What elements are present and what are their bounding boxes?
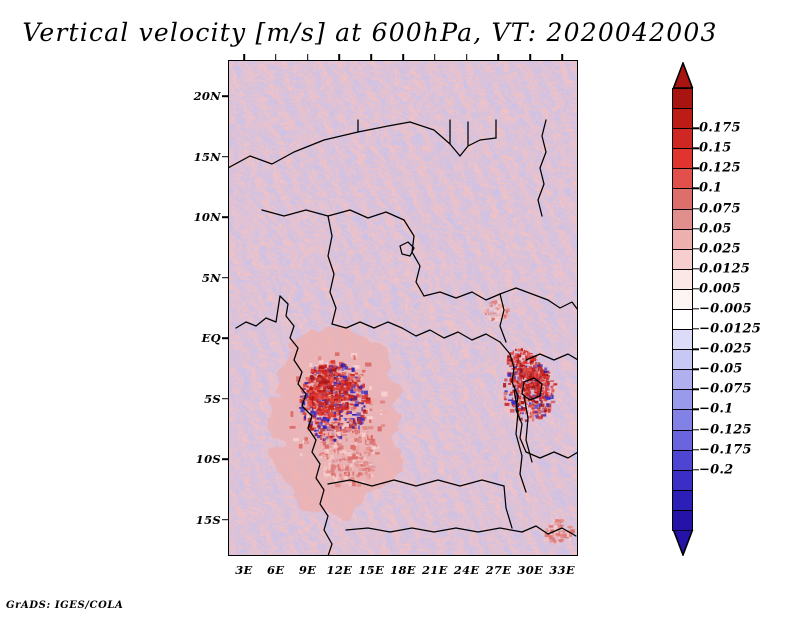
colorbar-tick-label: −0.1 (699, 402, 733, 417)
colorbar-segment (672, 389, 693, 410)
x-axis-label: 27E (486, 563, 512, 577)
colorbar-tick-label: −0.125 (699, 422, 752, 437)
colorbar: 0.1750.150.1250.10.0750.050.0250.01250.0… (672, 62, 693, 556)
map-panel: 20N15N10N5NEQ5S10S15S 3E6E9E12E15E18E21E… (228, 60, 578, 556)
x-tick-mark (275, 54, 277, 60)
x-tick-mark (466, 54, 468, 60)
colorbar-segment (672, 229, 693, 250)
y-axis-label: 10S (196, 452, 221, 466)
colorbar-tick-label: 0.1 (699, 181, 722, 196)
colorbar-tick-label: −0.005 (699, 302, 752, 317)
colorbar-segment (672, 289, 693, 310)
x-axis-label: 21E (422, 563, 448, 577)
x-tick-mark (307, 54, 309, 60)
attribution-footer: GrADS: IGES/COLA (6, 600, 123, 611)
colorbar-max-arrow (672, 62, 694, 88)
colorbar-segment (672, 88, 693, 109)
colorbar-tick-label: 0.075 (699, 201, 741, 216)
colorbar-segment (672, 369, 693, 390)
colorbar-tick-label: −0.2 (699, 462, 733, 477)
y-axis-label: 15S (196, 513, 221, 527)
colorbar-segment (672, 309, 693, 330)
colorbar-tick-label: −0.025 (699, 342, 752, 357)
y-tick-mark (222, 337, 228, 339)
y-tick-mark (222, 216, 228, 218)
vertical-velocity-field (228, 60, 578, 556)
x-tick-mark (434, 54, 436, 60)
y-tick-mark (222, 458, 228, 460)
x-tick-mark (402, 54, 404, 60)
colorbar-segment (672, 470, 693, 491)
y-tick-mark (222, 398, 228, 400)
colorbar-tick-label: 0.05 (699, 221, 731, 236)
x-tick-mark (370, 54, 372, 60)
y-axis-label: 5N (202, 271, 221, 285)
colorbar-segment (672, 269, 693, 290)
colorbar-tick-label: 0.005 (699, 281, 741, 296)
y-tick-mark (222, 156, 228, 158)
x-axis-label: 30E (517, 563, 543, 577)
colorbar-segment (672, 510, 693, 531)
colorbar-segment (672, 188, 693, 209)
y-axis-label: 15N (194, 150, 221, 164)
colorbar-segment (672, 430, 693, 451)
x-axis-label: 33E (549, 563, 575, 577)
colorbar-tick-label: 0.0125 (699, 261, 750, 276)
colorbar-segment (672, 128, 693, 149)
colorbar-segment (672, 409, 693, 430)
colorbar-tick-label: 0.175 (699, 121, 741, 136)
x-tick-mark (498, 54, 500, 60)
y-tick-mark (222, 519, 228, 521)
x-axis-label: 24E (454, 563, 480, 577)
y-tick-mark (222, 95, 228, 97)
y-tick-mark (222, 277, 228, 279)
x-tick-mark (243, 54, 245, 60)
x-axis-label: 15E (358, 563, 384, 577)
colorbar-segment (672, 209, 693, 230)
colorbar-segment (672, 490, 693, 511)
colorbar-segment (672, 249, 693, 270)
plot-canvas: Vertical velocity [m/s] at 600hPa, VT: 2… (0, 0, 800, 618)
colorbar-tick-label: −0.0125 (699, 322, 761, 337)
y-axis-label: 20N (194, 89, 221, 103)
x-axis-label: 18E (390, 563, 416, 577)
colorbar-segment (672, 329, 693, 350)
colorbar-min-arrow (672, 530, 694, 556)
page-title: Vertical velocity [m/s] at 600hPa, VT: 2… (0, 18, 740, 47)
y-axis-label: EQ (202, 331, 221, 345)
colorbar-tick-label: −0.075 (699, 382, 752, 397)
x-tick-mark (561, 54, 563, 60)
colorbar-tick-label: 0.125 (699, 161, 741, 176)
colorbar-segment (672, 108, 693, 129)
colorbar-tick-label: 0.025 (699, 241, 741, 256)
colorbar-tick-label: −0.05 (699, 362, 743, 377)
colorbar-segment (672, 168, 693, 189)
x-axis-label: 6E (267, 563, 284, 577)
y-axis-label: 5S (204, 392, 221, 406)
colorbar-segment (672, 148, 693, 169)
colorbar-segment (672, 450, 693, 471)
x-axis-label: 3E (235, 563, 252, 577)
x-axis-label: 9E (299, 563, 316, 577)
colorbar-tick-label: 0.15 (699, 141, 731, 156)
y-axis-label: 10N (194, 210, 221, 224)
x-axis-label: 12E (327, 563, 353, 577)
x-tick-mark (339, 54, 341, 60)
colorbar-tick-label: −0.175 (699, 442, 752, 457)
x-tick-mark (529, 54, 531, 60)
colorbar-segment (672, 349, 693, 370)
